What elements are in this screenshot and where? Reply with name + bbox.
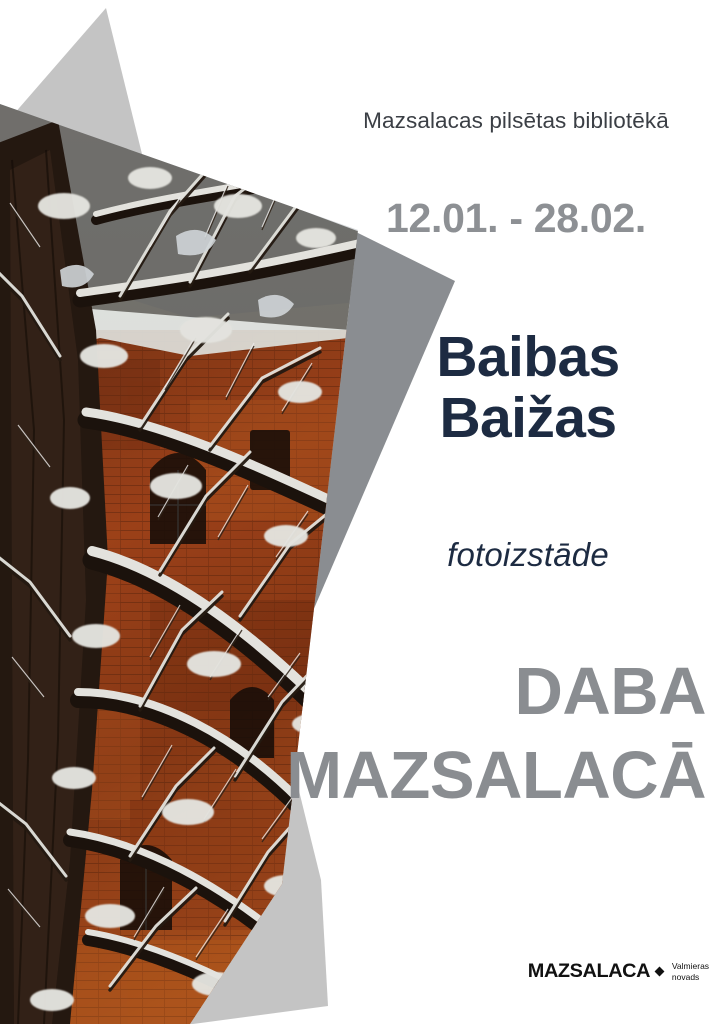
poster-canvas: Mazsalacas pilsētas bibliotēkā 12.01. - … [0,0,724,1024]
exhibition-title-line-1: DABA [236,650,706,734]
artist-name: Baibas Baižas [350,327,706,449]
exhibition-title-line-2: MAZSALACĀ [236,734,706,818]
text-layer: Mazsalacas pilsētas bibliotēkā 12.01. - … [0,0,724,1024]
date-range-text: 12.01. - 28.02. [330,195,702,242]
logo-subtext: Valmieras novads [672,961,709,981]
exhibition-title: DABA MAZSALACĀ [236,650,706,819]
logo-subtext-line-2: novads [672,972,709,982]
diamond-bullet-icon [654,967,664,977]
mazsalaca-logo: MAZSALACA Valmieras novads [529,960,709,983]
logo-subtext-line-1: Valmieras [672,961,709,971]
logo-wordmark: MAZSALACA [528,960,650,983]
artist-name-line-2: Baižas [350,388,706,449]
exhibition-type-subtitle: fotoizstāde [350,536,706,574]
venue-text: Mazsalacas pilsētas bibliotēkā [330,108,702,134]
artist-name-line-1: Baibas [350,327,706,388]
